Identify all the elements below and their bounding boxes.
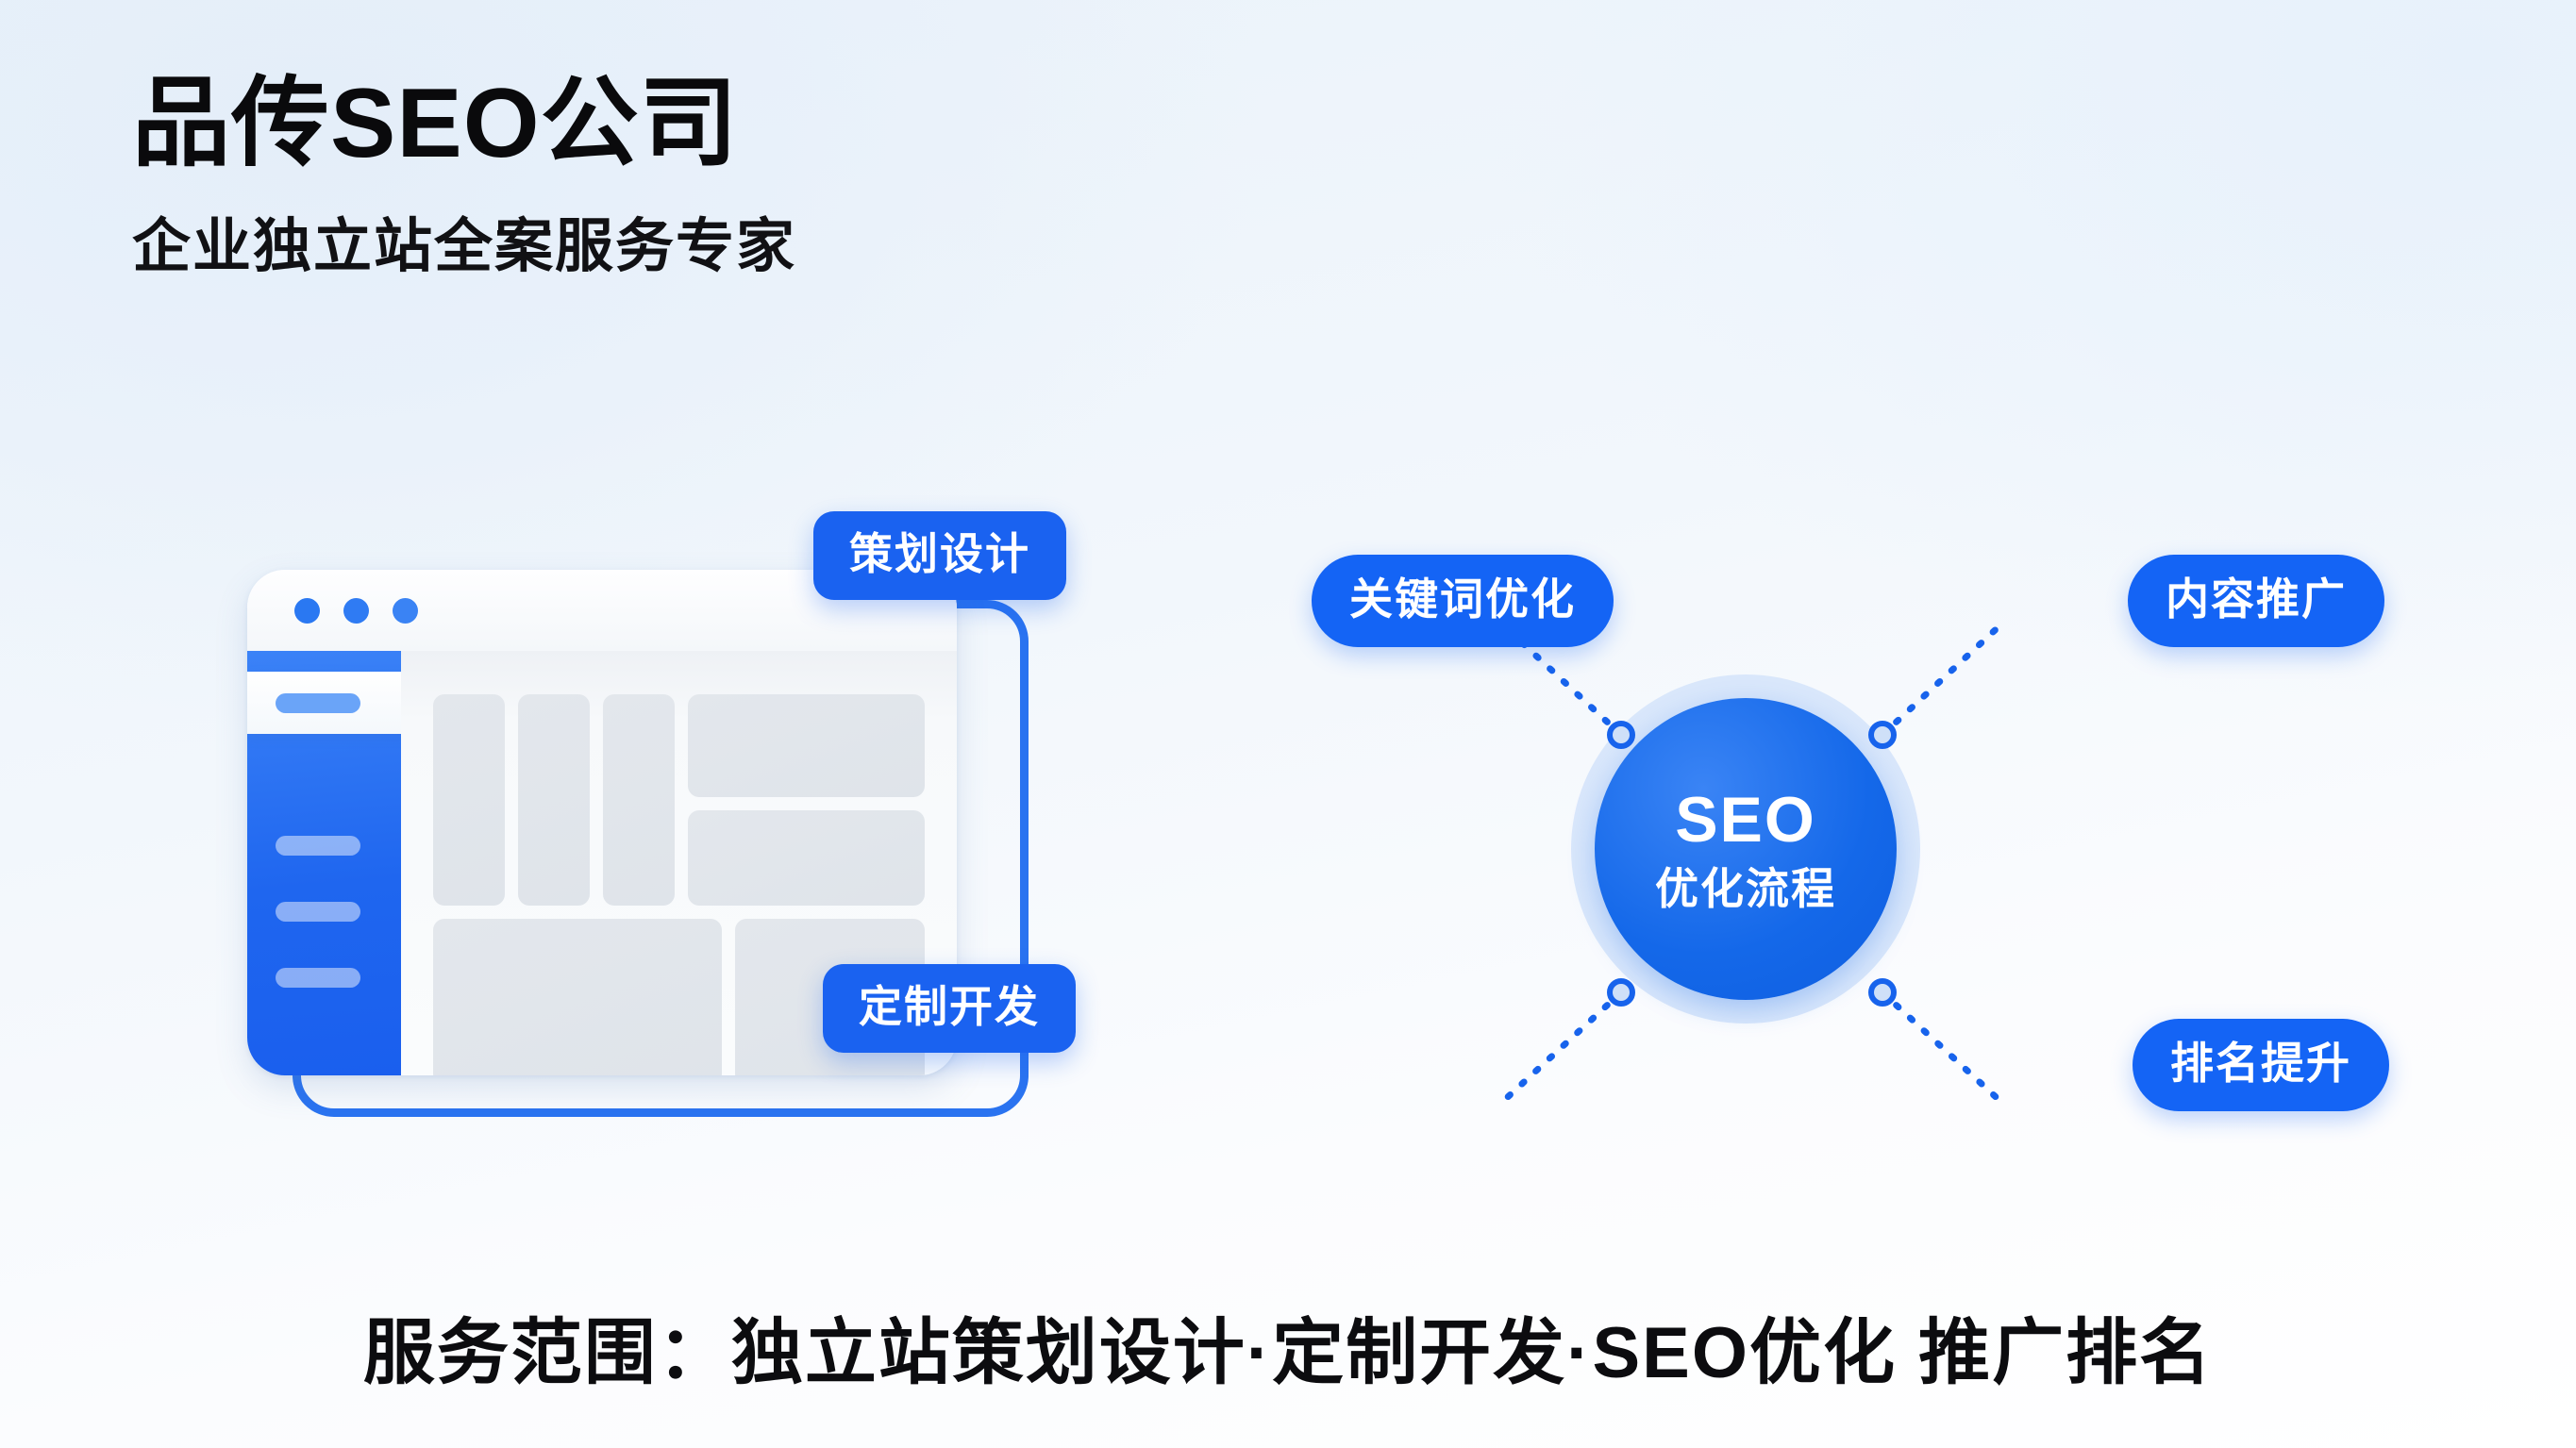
node-dot-top-left[interactable] [1607,721,1635,749]
pill-ranking-boost[interactable]: 排名提升 [2133,1019,2389,1111]
connector-bottom-left [1498,992,1621,1106]
sidebar-item-3[interactable] [276,968,360,988]
seo-core-title: SEO [1675,788,1816,852]
content-block [603,694,675,906]
content-right-column-group [688,694,925,906]
connector-bottom-right [1882,992,2005,1106]
badge-planning-design[interactable]: 策划设计 [813,511,1066,600]
content-narrow-column-group [433,694,675,906]
page-title: 品传SEO公司 [132,74,796,174]
window-maximize-dot-icon[interactable] [393,598,418,624]
sidebar-item-active-label-bar [276,693,360,713]
content-block [518,694,590,906]
seo-core-subtitle: 优化流程 [1655,867,1836,910]
window-minimize-dot-icon[interactable] [343,598,369,624]
poster-canvas: 品传SEO公司 企业独立站全案服务专家 [0,0,2576,1448]
node-dot-top-right[interactable] [1868,721,1897,749]
node-dot-bottom-right[interactable] [1868,978,1897,1007]
content-block [688,810,925,906]
sidebar-item-2[interactable] [276,902,360,922]
connector-top-right [1882,621,2005,735]
pill-content-promotion[interactable]: 内容推广 [2128,555,2384,647]
window-close-dot-icon[interactable] [294,598,320,624]
sidebar-item-1[interactable] [276,836,360,856]
content-grid-top-row [433,694,925,906]
seo-circle-core: SEO 优化流程 [1595,698,1897,1000]
node-dot-bottom-left[interactable] [1607,978,1635,1007]
seo-process-diagram: SEO 优化流程 关键词优化 内容推广 排名提升 [1302,509,2538,1160]
badge-custom-development[interactable]: 定制开发 [823,964,1076,1053]
pill-keyword-optimization[interactable]: 关键词优化 [1312,555,1614,647]
service-scope-banner: 服务范围：独立站策划设计·定制开发·SEO优化 推广排名 [0,1294,2576,1398]
page-subtitle: 企业独立站全案服务专家 [132,198,796,283]
content-block [688,694,925,797]
content-block [433,919,722,1075]
header-block: 品传SEO公司 企业独立站全案服务专家 [132,74,796,283]
content-block [433,694,505,906]
